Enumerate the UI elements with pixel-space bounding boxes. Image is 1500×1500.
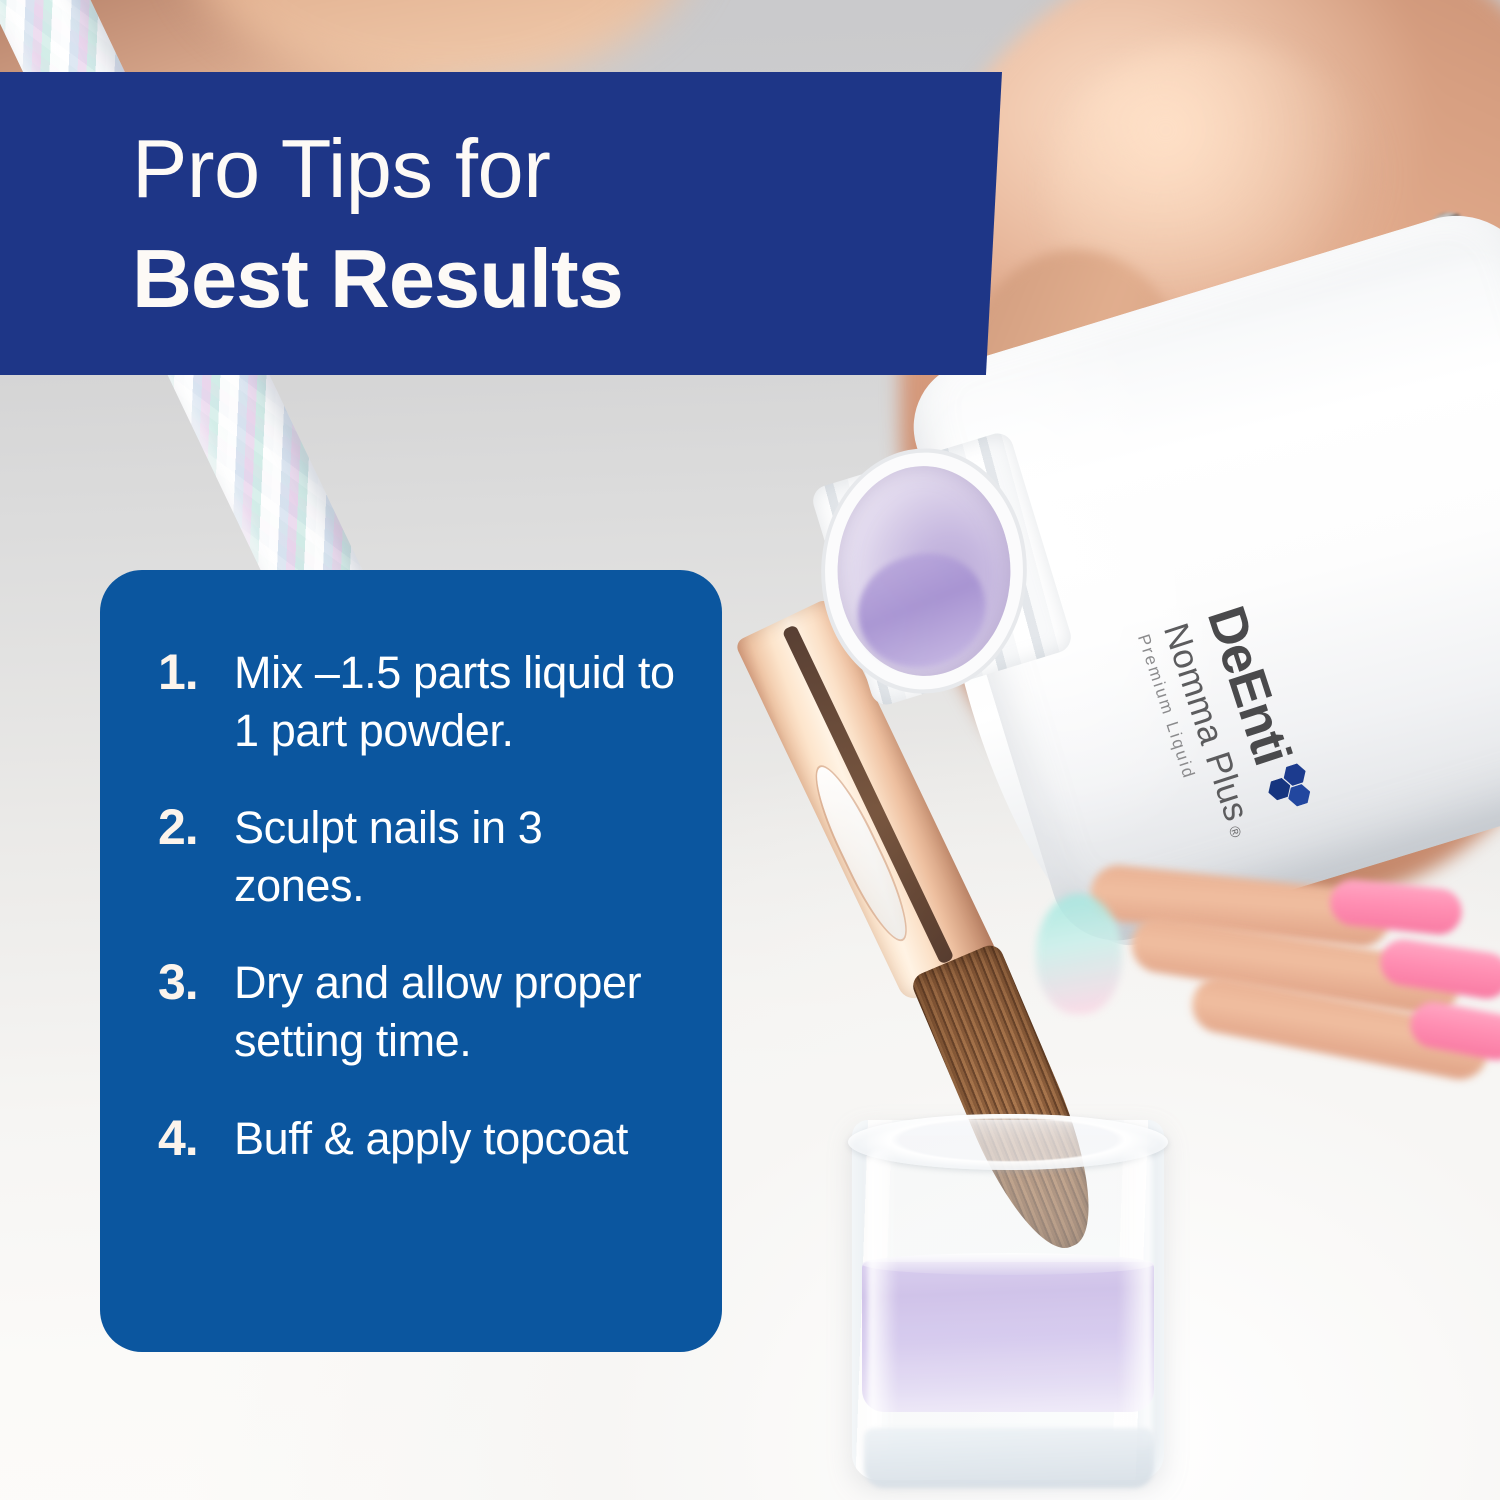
header-banner: Pro Tips for Best Results	[0, 72, 1002, 375]
tip-text: Dry and allow proper setting time.	[234, 954, 682, 1069]
tip-number: 1.	[158, 644, 234, 700]
dish-highlight-left	[868, 1150, 898, 1450]
page-title-line-2: Best Results	[132, 224, 1002, 334]
dish-highlight-right	[1118, 1150, 1152, 1450]
tip-text: Mix –1.5 parts liquid to 1 part powder.	[234, 644, 682, 759]
list-item: 3. Dry and allow proper setting time.	[100, 954, 722, 1069]
dish-lavender-liquid	[862, 1262, 1154, 1412]
tip-number: 3.	[158, 954, 234, 1010]
tip-text: Buff & apply topcoat	[234, 1110, 628, 1168]
page-title-line-1: Pro Tips for	[132, 122, 550, 215]
page-title: Pro Tips for Best Results	[132, 114, 1002, 335]
tip-number: 2.	[158, 799, 234, 855]
list-item: 2. Sculpt nails in 3 zones.	[100, 799, 722, 914]
dish-base	[864, 1428, 1154, 1488]
fingers-with-acrylic-nails	[1080, 860, 1500, 1150]
pro-tips-panel: 1. Mix –1.5 parts liquid to 1 part powde…	[100, 570, 722, 1352]
pastel-nail-tip	[1036, 894, 1122, 1014]
tip-text: Sculpt nails in 3 zones.	[234, 799, 682, 914]
tip-number: 4.	[158, 1110, 234, 1166]
list-item: 4. Buff & apply topcoat	[100, 1110, 722, 1168]
list-item: 1. Mix –1.5 parts liquid to 1 part powde…	[100, 644, 722, 759]
